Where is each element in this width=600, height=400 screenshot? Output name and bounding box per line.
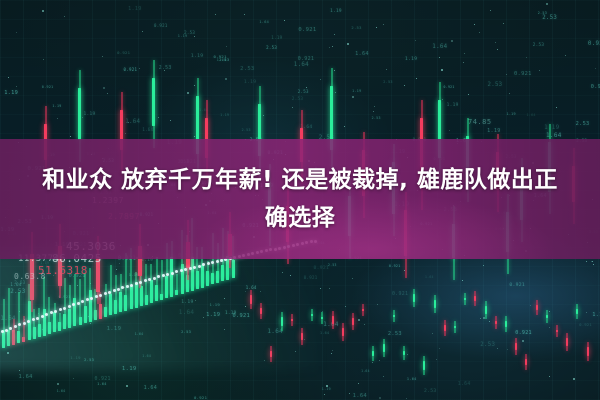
price-readout: 0.63.8	[14, 272, 46, 281]
banner-sheen	[0, 139, 600, 259]
banner-image: 0.9211.191.642.530.9211.191.642.530.9211…	[0, 0, 600, 400]
headline-line-1: 和业众 放弃千万年薪! 还是被裁掉, 雄鹿队做出正	[42, 165, 558, 195]
price-readout: 74.85	[468, 118, 492, 126]
headline-line-2: 确选择	[265, 203, 336, 233]
headline-banner: 和业众 放弃千万年薪! 还是被裁掉, 雄鹿队做出正 确选择	[0, 139, 600, 259]
